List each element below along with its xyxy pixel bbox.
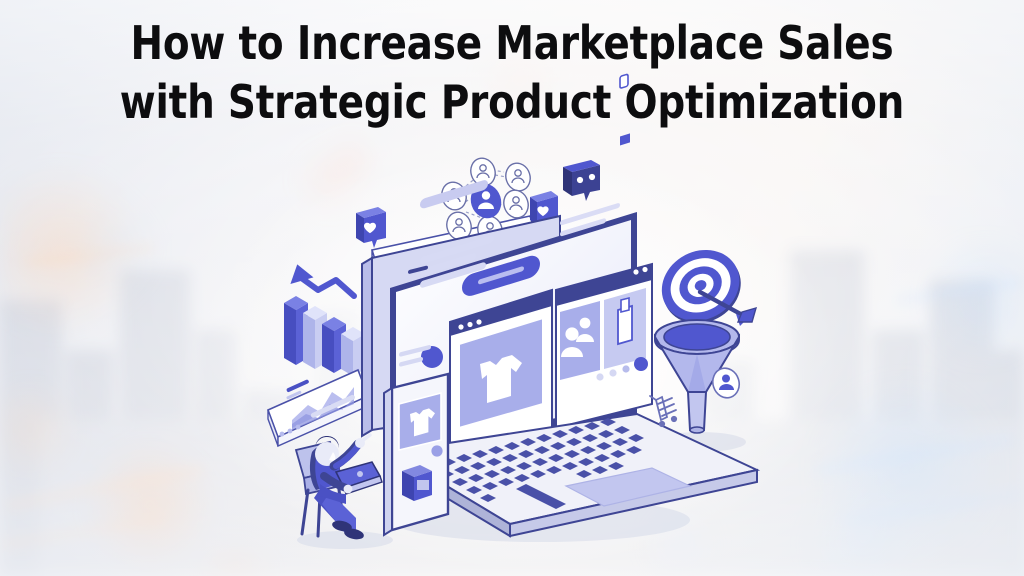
page-title: How to Increase Marketplace Sales with S… bbox=[0, 14, 1024, 132]
title-line-2: with Strategic Product Optimization bbox=[68, 73, 955, 132]
package-box bbox=[402, 465, 432, 501]
phone-badge bbox=[431, 445, 442, 456]
graphic-canvas: How to Increase Marketplace Sales with S… bbox=[0, 0, 1024, 576]
title-line-1: How to Increase Marketplace Sales bbox=[68, 14, 955, 73]
